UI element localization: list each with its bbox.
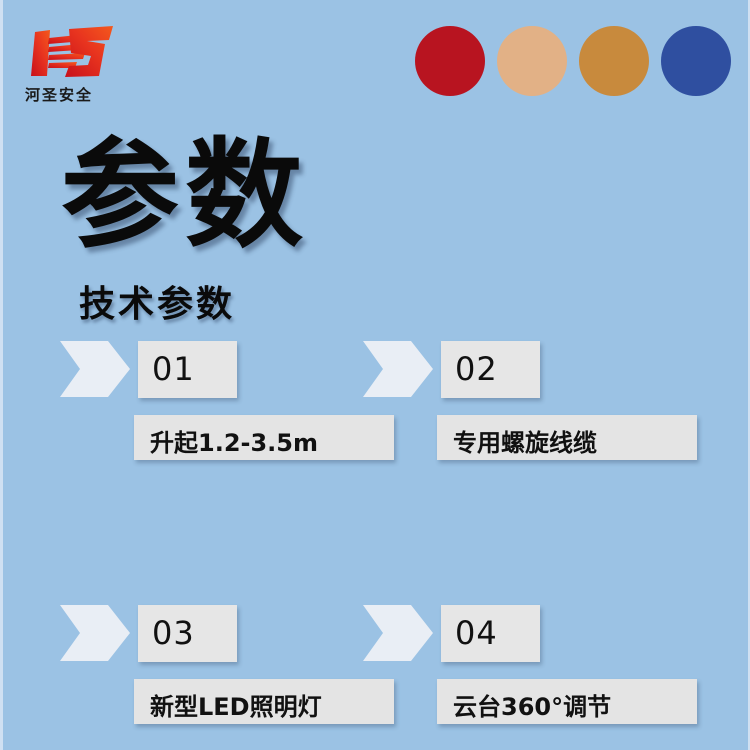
spec-index-box: 01 [138, 341, 237, 398]
page-title: 参数 [61, 132, 309, 259]
double-chevron-right-icon [58, 603, 134, 665]
spec-label-box: 新型LED照明灯 [134, 679, 394, 724]
spec-label-box: 升起1.2-3.5m [134, 415, 394, 460]
spec-index-label: 02 [455, 350, 498, 388]
spec-index-box: 03 [138, 605, 237, 662]
swatch-red [415, 26, 485, 96]
spec-index-box: 04 [441, 605, 540, 662]
spec-index-label: 04 [455, 614, 498, 652]
swatch-ochre [579, 26, 649, 96]
spec-index-box: 02 [441, 341, 540, 398]
spec-label-text: 专用螺旋线缆 [453, 423, 597, 458]
double-chevron-right-icon [361, 603, 437, 665]
hs-monogram-icon [25, 24, 121, 82]
color-swatch-row [415, 26, 731, 96]
brand-block: 河圣安全 [25, 24, 145, 110]
brand-name: 河圣安全 [25, 84, 145, 105]
spec-index-label: 01 [152, 350, 195, 388]
spec-label-text: 新型LED照明灯 [150, 687, 322, 722]
spec-label-box: 云台360°调节 [437, 679, 697, 724]
double-chevron-right-icon [361, 339, 437, 401]
spec-index-label: 03 [152, 614, 195, 652]
spec-label-text: 升起1.2-3.5m [150, 423, 318, 458]
spec-label-text: 云台360°调节 [453, 687, 611, 722]
page-subtitle: 技术参数 [79, 275, 235, 327]
poster-canvas: 河圣安全 参数 技术参数 01 升起1.2-3.5m [0, 0, 750, 750]
double-chevron-right-icon [58, 339, 134, 401]
swatch-tan [497, 26, 567, 96]
swatch-blue [661, 26, 731, 96]
spec-label-box: 专用螺旋线缆 [437, 415, 697, 460]
